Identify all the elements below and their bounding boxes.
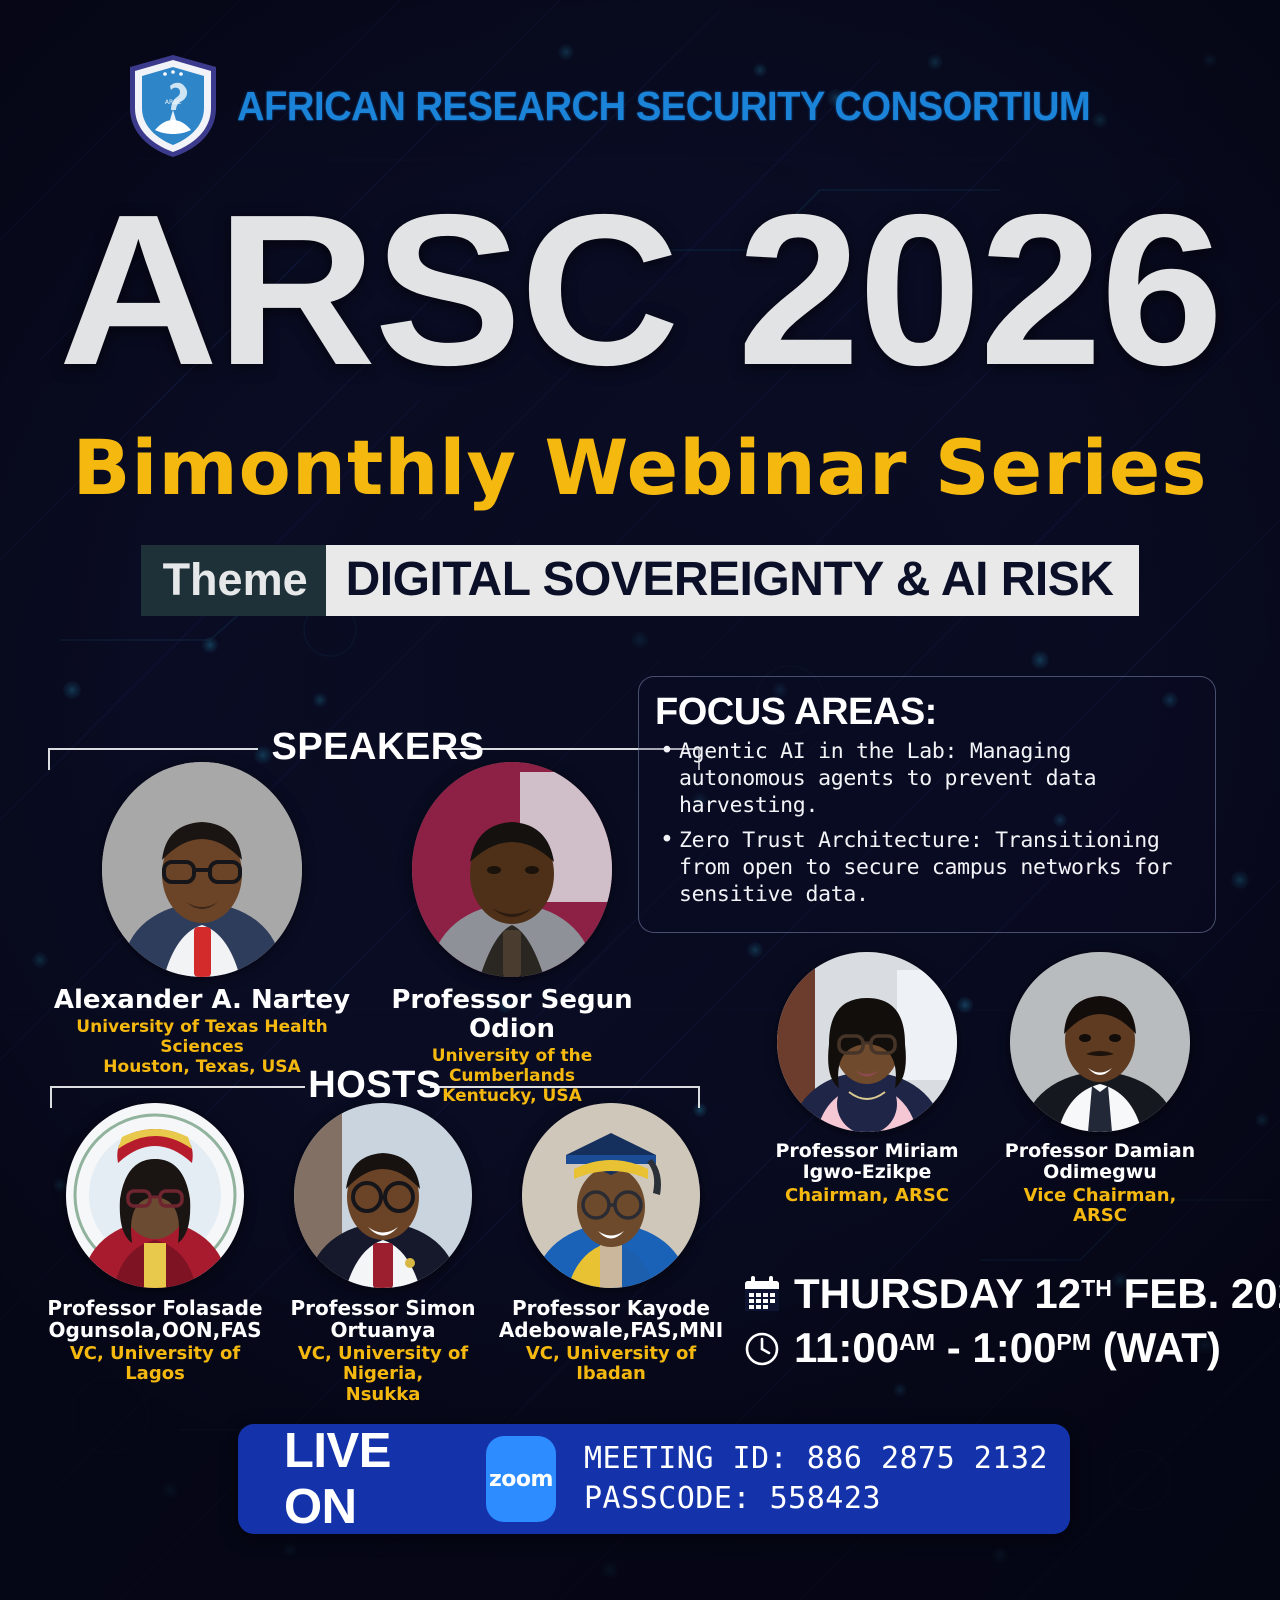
- focus-areas-heading: FOCUS AREAS:: [655, 691, 1199, 734]
- zoom-credentials: MEETING ID: 886 2875 2132 PASSCODE: 5584…: [584, 1439, 1048, 1518]
- avatar: [294, 1103, 472, 1288]
- event-time: 11:00AM - 1:00PM (WAT): [794, 1324, 1221, 1372]
- officer-role: Vice Chairman, ARSC: [995, 1186, 1205, 1227]
- speaker-name: Professor Segun Odion: [372, 986, 652, 1044]
- host-name: Professor Simon: [268, 1297, 498, 1319]
- host-role: VC, University of Nigeria,: [268, 1344, 498, 1385]
- clock-icon: [742, 1328, 782, 1368]
- host-name-line2: Ortuanya: [268, 1319, 498, 1341]
- avatar: [102, 762, 302, 977]
- host-card: Professor Kayode Adebowale,FAS,MNI VC, U…: [496, 1103, 726, 1385]
- host-card: Professor Simon Ortuanya VC, University …: [268, 1103, 498, 1406]
- host-name-line2: Adebowale,FAS,MNI: [496, 1319, 726, 1341]
- theme-banner: Theme DIGITAL SOVEREIGNTY & AI RISK: [0, 545, 1280, 616]
- zoom-meeting-id: MEETING ID: 886 2875 2132: [584, 1439, 1048, 1479]
- avatar: [777, 952, 957, 1132]
- event-date-row: THURSDAY 12TH FEB. 2026.: [742, 1270, 1262, 1318]
- host-role-line2: Nsukka: [268, 1385, 498, 1406]
- officer-name: Professor Damian: [995, 1141, 1205, 1162]
- focus-area-item: Zero Trust Architecture: Transitioning f…: [655, 827, 1199, 908]
- svg-text:ARSC: ARSC: [165, 99, 181, 106]
- zoom-live-bar[interactable]: LIVE ON zoom MEETING ID: 886 2875 2132 P…: [238, 1424, 1070, 1534]
- focus-area-item: Agentic AI in the Lab: Managing autonomo…: [655, 738, 1199, 819]
- event-date: THURSDAY 12TH FEB. 2026.: [794, 1270, 1280, 1318]
- officer-name-line2: Odimegwu: [995, 1162, 1205, 1183]
- zoom-logo-icon: zoom: [486, 1436, 556, 1522]
- page-subtitle: Bimonthly Webinar Series: [0, 430, 1280, 506]
- speaker-card: Alexander A. Nartey University of Texas …: [52, 762, 352, 1078]
- zoom-brand-text: zoom: [489, 1467, 553, 1492]
- focus-areas-list: Agentic AI in the Lab: Managing autonomo…: [655, 738, 1199, 908]
- shield-logo-icon: ARSC: [125, 52, 221, 160]
- officer-card: Professor Damian Odimegwu Vice Chairman,…: [995, 952, 1205, 1227]
- speaker-affiliation: University of Texas Health Sciences: [52, 1018, 352, 1057]
- officer-name-line2: Igwo-Ezikpe: [762, 1162, 972, 1183]
- host-name: Professor Kayode: [496, 1297, 726, 1319]
- avatar: [66, 1103, 244, 1288]
- bracket-tick-left: [48, 748, 50, 770]
- host-name: Professor Folasade: [40, 1297, 270, 1319]
- host-name-line2: Ogunsola,OON,FAS: [40, 1319, 270, 1341]
- bracket-bar-right: [430, 1086, 700, 1088]
- organization-name: AFRICAN RESEARCH SECURITY CONSORTIUM: [237, 83, 1090, 130]
- bracket-bar-left: [50, 1086, 305, 1088]
- avatar: [1010, 952, 1190, 1132]
- event-datetime: THURSDAY 12TH FEB. 2026. 11:00AM - 1:00P…: [742, 1270, 1262, 1378]
- theme-text: DIGITAL SOVEREIGNTY & AI RISK: [326, 545, 1140, 616]
- avatar: [522, 1103, 700, 1288]
- officer-card: Professor Miriam Igwo-Ezikpe Chairman, A…: [762, 952, 972, 1206]
- officer-role: Chairman, ARSC: [762, 1186, 972, 1207]
- focus-areas-panel: FOCUS AREAS: Agentic AI in the Lab: Mana…: [638, 676, 1216, 933]
- page-title: ARSC 2026: [0, 195, 1280, 384]
- bracket-bar-left: [48, 748, 258, 750]
- speaker-card: Professor Segun Odion University of the …: [372, 762, 652, 1107]
- officer-name: Professor Miriam: [762, 1141, 972, 1162]
- poster-header: ARSC AFRICAN RESEARCH SECURITY CONSORTIU…: [0, 52, 1280, 160]
- speaker-name: Alexander A. Nartey: [52, 986, 352, 1015]
- host-role: VC, University of Ibadan: [496, 1344, 726, 1385]
- host-card: Professor Folasade Ogunsola,OON,FAS VC, …: [40, 1103, 270, 1385]
- zoom-passcode: PASSCODE: 558423: [584, 1479, 1048, 1519]
- theme-label: Theme: [141, 545, 326, 616]
- event-time-row: 11:00AM - 1:00PM (WAT): [742, 1324, 1262, 1372]
- calendar-icon: [742, 1274, 782, 1314]
- host-role: VC, University of Lagos: [40, 1344, 270, 1385]
- live-on-label: LIVE ON: [284, 1423, 458, 1535]
- avatar: [412, 762, 612, 977]
